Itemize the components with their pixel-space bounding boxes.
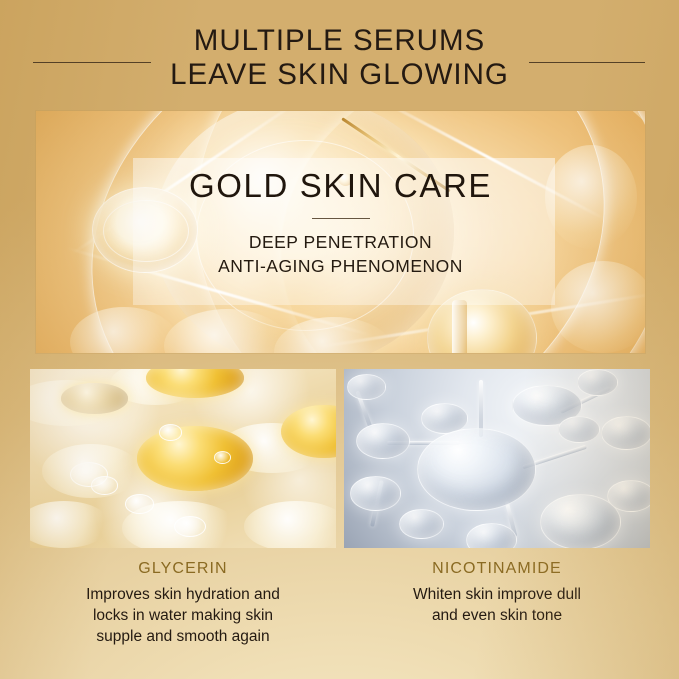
ingredient-cards: GLYCERIN Improves skin hydration and loc…: [0, 369, 679, 669]
hero-title: GOLD SKIN CARE: [36, 167, 645, 205]
hero-text-block: GOLD SKIN CARE DEEP PENETRATION ANTI-AGI…: [36, 167, 645, 278]
hero-banner: GOLD SKIN CARE DEEP PENETRATION ANTI-AGI…: [36, 111, 645, 353]
hero-divider: [312, 218, 370, 219]
molecule-sphere: [350, 476, 401, 510]
soft-glow-disc: [70, 307, 178, 353]
soft-glow-disc: [274, 317, 394, 353]
water-bubble: [214, 451, 231, 464]
water-caustic: [30, 501, 110, 548]
molecule-sphere-main: [417, 428, 535, 511]
ingredient-card-glycerin: GLYCERIN Improves skin hydration and loc…: [30, 369, 336, 647]
ingredient-description: Improves skin hydration and locks in wat…: [30, 584, 336, 647]
oil-droplet: [61, 383, 128, 413]
ingredient-description: Whiten skin improve dull and even skin t…: [344, 584, 650, 626]
water-bubble: [159, 424, 182, 440]
ingredient-card-nicotinamide: NICOTINAMIDE Whiten skin improve dull an…: [344, 369, 650, 626]
molecule-sphere: [558, 416, 600, 443]
molecule-sphere: [540, 494, 622, 548]
molecule-sphere: [601, 416, 650, 450]
page-title-line-1: MULTIPLE SERUMS: [0, 24, 679, 58]
page-title-line-2: LEAVE SKIN GLOWING: [0, 58, 679, 92]
molecule-sphere: [356, 423, 410, 459]
molecule-sphere: [347, 374, 386, 399]
soft-glow-disc: [164, 309, 290, 353]
infographic-page: MULTIPLE SERUMS LEAVE SKIN GLOWING: [0, 0, 679, 679]
glycerin-image: [30, 369, 336, 548]
hero-subtitle-line-2: ANTI-AGING PHENOMENON: [36, 254, 645, 278]
oil-droplet-main: [137, 426, 253, 490]
molecule-sphere: [577, 369, 619, 396]
water-bubble: [91, 476, 117, 494]
ingredient-name: NICOTINAMIDE: [344, 560, 650, 578]
molecule-sphere: [466, 523, 517, 548]
page-title: MULTIPLE SERUMS LEAVE SKIN GLOWING: [0, 24, 679, 92]
hero-subtitle-line-1: DEEP PENETRATION: [36, 230, 645, 254]
ingredient-name: GLYCERIN: [30, 560, 336, 578]
water-caustic: [244, 501, 336, 548]
nicotinamide-image: [344, 369, 650, 548]
molecule-sphere: [399, 509, 444, 540]
